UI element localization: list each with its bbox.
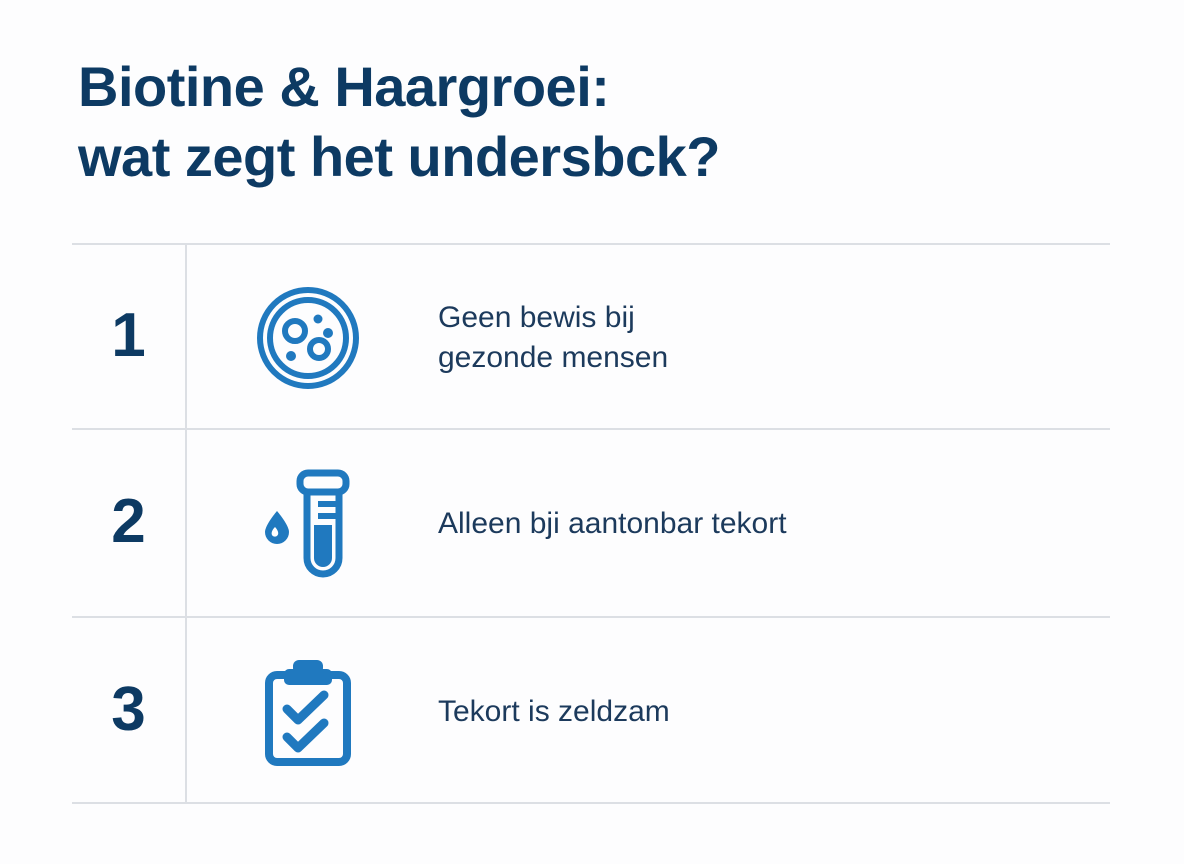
points-table: 1 Geen bewis bij gezonde mensen <box>72 243 1110 804</box>
title-line-1: Biotine & Haargroei: <box>78 52 978 122</box>
petri-dish-icon <box>256 286 360 390</box>
table-row: 3 Tekort is ze <box>72 618 1110 805</box>
table-row: 2 <box>72 430 1110 618</box>
infographic-canvas: Biotine & Haargroei: wat zegt het unders… <box>0 0 1184 864</box>
row-number: 2 <box>72 491 185 557</box>
row-icon <box>185 657 430 767</box>
row-label-line-1: Geen bewis bij <box>438 301 635 334</box>
row-label-line-1: Tekort is zeldzam <box>438 695 670 728</box>
page-title: Biotine & Haargroei: wat zegt het unders… <box>78 52 978 192</box>
row-label: Alleen bji aantonbar tekort <box>430 504 1110 544</box>
row-number: 3 <box>72 679 185 745</box>
table-row: 1 Geen bewis bij gezonde mensen <box>72 245 1110 430</box>
clipboard-checklist-icon <box>262 657 354 767</box>
row-label-line-2: gezonde mensen <box>438 338 1110 378</box>
row-icon <box>185 286 430 390</box>
row-label: Geen bewis bij gezonde mensen <box>430 298 1110 378</box>
row-label-line-1: Alleen bji aantonbar tekort <box>438 507 787 540</box>
row-icon <box>185 465 430 583</box>
row-number: 1 <box>72 305 185 371</box>
row-label: Tekort is zeldzam <box>430 692 1110 732</box>
title-line-2: wat zegt het undersbck? <box>78 122 978 192</box>
test-tube-droplet-icon <box>252 465 364 583</box>
